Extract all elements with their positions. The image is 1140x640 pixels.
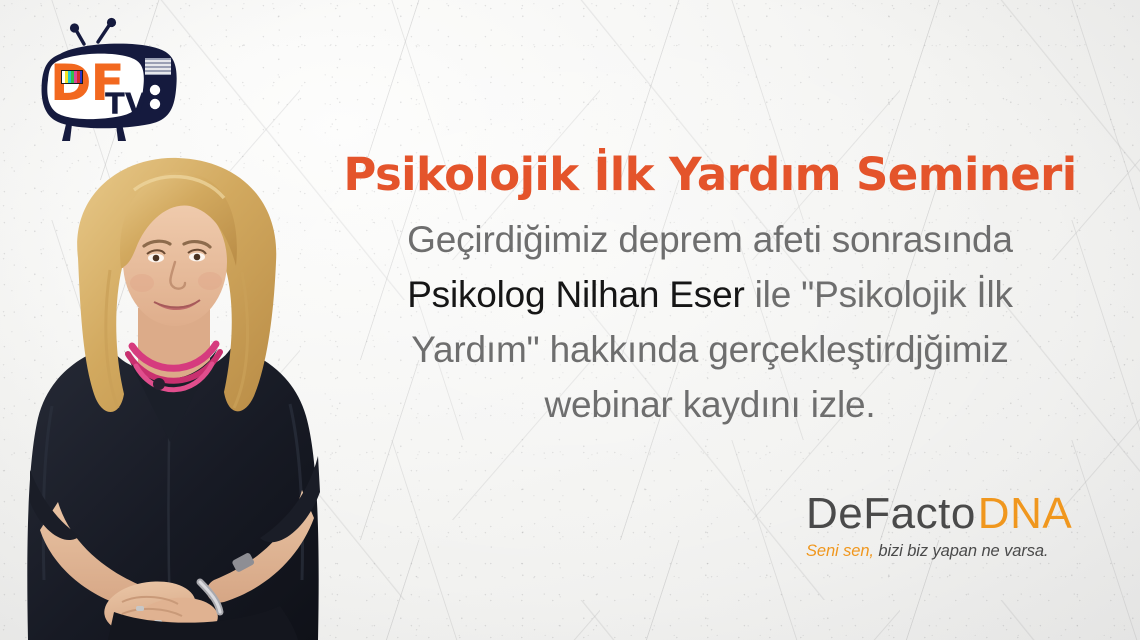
body-line-4: webinar kaydını izle. xyxy=(544,384,875,425)
tv-knob-upper xyxy=(150,85,160,95)
body-paragraph: Geçirdiğimiz deprem afeti sonrasında Psi… xyxy=(330,212,1090,432)
copy-block: Psikolojik İlk Yardım Semineri Geçirdiği… xyxy=(330,150,1090,432)
dna-wordmark: DeFactoDNA xyxy=(806,492,1091,536)
dftv-logo[interactable]: DF TV xyxy=(22,8,192,143)
logo-letters-tv: TV xyxy=(105,87,148,121)
tv-speaker-grille-icon xyxy=(145,58,171,75)
body-line-2-rest: ile "Psikolojik İlk xyxy=(745,274,1013,315)
page-title: Psikolojik İlk Yardım Semineri xyxy=(330,150,1090,200)
dna-tagline-rest: bizi biz yapan ne varsa. xyxy=(874,542,1049,560)
tv-knob-lower xyxy=(150,99,160,109)
defacto-dna-logo[interactable]: DeFactoDNA Seni sen, bizi biz yapan ne v… xyxy=(806,492,1091,561)
speaker-name: Psikolog Nilhan Eser xyxy=(407,274,744,315)
dna-tagline: Seni sen, bizi biz yapan ne varsa. xyxy=(806,542,1091,561)
tv-leg-left xyxy=(62,124,72,141)
promo-poster: DF TV xyxy=(0,0,1140,640)
dna-word-dna: DNA xyxy=(978,489,1072,538)
dna-word-defacto: DeFacto xyxy=(806,489,976,538)
speaker-portrait xyxy=(18,150,348,640)
body-line-1: Geçirdiğimiz deprem afeti sonrasında xyxy=(407,219,1013,260)
tv-test-pattern-icon xyxy=(61,70,83,84)
dna-tagline-accent: Seni sen, xyxy=(806,542,874,560)
portrait-ring-1 xyxy=(136,606,144,611)
tv-antenna-icon xyxy=(70,18,116,44)
body-line-3: Yardım" hakkında gerçekleştirdjğimiz xyxy=(411,329,1008,370)
